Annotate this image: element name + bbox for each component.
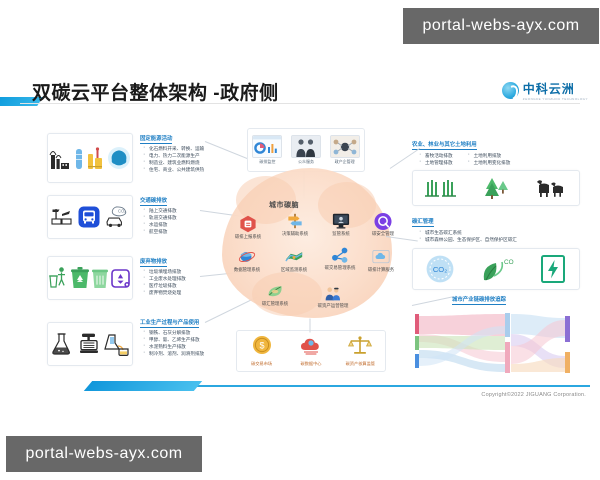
- tile-public-service[interactable]: 公众服务: [291, 135, 321, 165]
- cloud-compute-icon: [372, 248, 390, 266]
- bottom-item-label: 碳交易市场: [240, 361, 284, 367]
- icon-card-transport: CO₂: [47, 195, 133, 239]
- team-icon: [324, 284, 342, 302]
- tile-gov-enterprise[interactable]: 政产企管理: [330, 135, 360, 165]
- sankey-node: [565, 316, 570, 342]
- bus-icon: [78, 206, 100, 228]
- bullet-item: 水泥熟料生产排放: [142, 343, 224, 350]
- bullet-item: 航空排放: [142, 228, 222, 235]
- icon-card-afolu: [412, 170, 580, 206]
- bullet-item: 畜牧活动排放: [418, 152, 453, 159]
- bullet-list-fixed-energy: 化石燃料开采、转换、运输 电力、热力二次能源生产 制造业、建筑业燃料燃烧 住宅、…: [142, 145, 222, 173]
- brain-node-label: 区域监测系统: [271, 267, 317, 272]
- leaf-co2-icon: CO₂: [480, 254, 514, 284]
- bullet-item: 钢铁、石灰分解排放: [142, 329, 224, 336]
- gas-molecule-icon: [107, 146, 131, 170]
- share-nodes-icon: [331, 246, 349, 264]
- chart-title: 城市产业链碳排放追踪: [452, 295, 506, 305]
- co2-circle-icon: CO₂: [425, 254, 455, 284]
- bullet-item: 土地管理排放: [418, 159, 453, 166]
- brain-node-carbon-security[interactable]: 碳安全管理: [360, 212, 406, 236]
- recycle-bin-icon: [70, 266, 90, 290]
- copyright-text: Copyright©2022 JIGUANG Corporation.: [481, 392, 586, 398]
- icon-card-fixed-energy: [47, 133, 133, 183]
- bullet-item: 水运排放: [142, 221, 222, 228]
- bullet-item: 医疗垃圾排放: [142, 282, 222, 289]
- watermark-bottom: portal-webs-ayx.com: [6, 436, 202, 472]
- brain-node-carbon-calc[interactable]: 碳排计算服务: [358, 248, 404, 272]
- svg-text:CO₂: CO₂: [433, 265, 447, 274]
- brand-name: 中科云洲: [523, 80, 588, 97]
- bullet-item: 电力、热力二次能源生产: [142, 152, 222, 159]
- bullet-list-waste: 垃圾填埋场排放 工业废水处理排放 医疗垃圾排放 废弃物焚烧处理: [142, 268, 222, 296]
- title-divider: [20, 103, 580, 104]
- brain-node-label: 碳资产运营管理: [310, 303, 356, 308]
- officials-icon: [291, 135, 321, 158]
- sankey-node: [505, 313, 510, 337]
- bullet-item: 化石燃料开采、转换、运输: [142, 145, 222, 152]
- brain-node-report-upload[interactable]: 碳排上报系统: [225, 215, 271, 239]
- brand-logo: 中科云洲 ZHONGKE YUNZHOU TECHNOLOGY: [502, 80, 588, 101]
- watermark-top: portal-webs-ayx.com: [403, 8, 599, 44]
- leaf-sink-icon: [266, 282, 284, 300]
- bullet-item: 工业废水处理排放: [142, 275, 222, 282]
- brand-subtitle: ZHONGKE YUNZHOU TECHNOLOGY: [523, 97, 588, 101]
- map-region-icon: [285, 248, 303, 266]
- bullet-list-afolu: 畜牧活动排放 土地管理排放 土地利用排放 土地利用变化排放: [418, 152, 510, 166]
- slide-canvas: 双碳云平台整体架构 -政府侧 中科云洲 ZHONGKE YUNZHOU TECH…: [0, 0, 600, 480]
- person-trash-icon: [49, 266, 69, 290]
- footer-divider: [170, 385, 590, 387]
- bullet-list-industrial-process: 钢铁、石灰分解排放 甲醇、氨、乙烯生产排放 水泥熟料生产排放 制冷剂、溶剂、润滑…: [142, 329, 224, 357]
- group-title-carbon-sink: 碳汇管理: [412, 217, 434, 227]
- icon-card-waste: [47, 256, 133, 300]
- dashboard-chart-icon: [252, 135, 282, 158]
- tile-label: 政产企管理: [330, 159, 360, 165]
- waste-bin-icon: [91, 266, 109, 290]
- brain-node-label: 数据管理系统: [224, 267, 270, 272]
- brain-node-data-management[interactable]: 数据管理系统: [224, 248, 270, 272]
- svg-text:CO₂: CO₂: [118, 209, 126, 214]
- balance-scale-icon: [348, 335, 372, 355]
- brain-node-label: 碳排上报系统: [225, 234, 271, 239]
- bullet-item: 甲醇、氨、乙烯生产排放: [142, 336, 224, 343]
- sankey-svg: [407, 312, 579, 374]
- page-title: 双碳云平台整体架构 -政府侧: [32, 78, 279, 105]
- bottom-item-carbon-asset-audit[interactable]: 碳资产核算监管: [338, 335, 382, 367]
- svg-text:$: $: [259, 341, 264, 351]
- signpost-icon: [286, 212, 304, 230]
- connector-line: [390, 148, 420, 169]
- bullet-item: 轨道交通排放: [142, 214, 222, 221]
- group-title-waste: 废弃物排放: [140, 257, 167, 267]
- bullet-item: 制冷剂、溶剂、润滑剂排放: [142, 350, 224, 357]
- livestock-icon: [535, 176, 567, 200]
- car-co2-icon: CO₂: [104, 206, 130, 228]
- brain-node-regional-monitor[interactable]: 区域监测系统: [271, 248, 317, 272]
- brain-node-label: 碳安全管理: [360, 231, 406, 236]
- brain-node-label: 碳排计算服务: [358, 267, 404, 272]
- tile-label: 碳排监控: [252, 159, 282, 165]
- industrial-press-icon: [78, 332, 100, 356]
- forest-icon: [484, 176, 510, 200]
- connector-line: [412, 296, 453, 306]
- bullet-item: 废弃物焚烧处理: [142, 289, 222, 296]
- group-title-afolu: 农业、林业与其它土地利用: [412, 140, 477, 150]
- brain-node-supervision[interactable]: 监管系统: [318, 212, 364, 236]
- connector-line: [310, 319, 311, 333]
- svg-text:CO₂: CO₂: [504, 259, 514, 266]
- bullet-item: 制造业、建筑业燃料燃烧: [142, 159, 222, 166]
- bullet-list-carbon-sink: 城市生态碳汇系统 城市森林公园、生态保护区、自然保护区碳汇: [418, 229, 578, 243]
- brain-node-decision-support[interactable]: 决策辅助系统: [272, 212, 318, 236]
- brain-node-carbon-trading[interactable]: 碳交易管理系统: [317, 246, 363, 270]
- cloud-data-icon: [299, 335, 323, 355]
- database-orbit-icon: [238, 248, 256, 266]
- bullet-item: 城市生态碳汇系统: [418, 229, 578, 236]
- group-title-industrial-process: 工业生产过程与产品使用: [140, 318, 199, 328]
- tile-label: 公众服务: [291, 159, 321, 165]
- bullet-item: 土地利用变化排放: [467, 159, 511, 166]
- recycle-box-icon: [110, 266, 132, 290]
- bottom-feature-card[interactable]: $ 碳交易市场 碳数据中心 碳资产核算监管: [236, 330, 386, 372]
- crop-field-icon: [425, 176, 459, 200]
- flask-icon: [50, 332, 74, 356]
- airport-icon: [50, 205, 74, 229]
- icon-card-industrial-process: [47, 322, 133, 366]
- coin-icon: $: [252, 335, 272, 355]
- footer-accent-bar: [84, 381, 202, 391]
- sankey-node: [415, 354, 419, 368]
- group-title-fixed-energy: 固定能源活动: [140, 134, 172, 144]
- storage-tank-icon: [73, 145, 85, 171]
- bottom-item-carbon-market[interactable]: $ 碳交易市场: [240, 335, 284, 367]
- bottom-item-label: 碳数据中心: [289, 361, 333, 367]
- brain-node-carbon-sink-system[interactable]: 碳汇管理系统: [252, 282, 298, 306]
- brain-node-label: 碳交易管理系统: [317, 265, 363, 270]
- group-title-transport: 交通碳排放: [140, 196, 167, 206]
- bottom-item-carbon-data-center[interactable]: 碳数据中心: [289, 335, 333, 367]
- bullet-item: 住宅、商业、公共建筑供热: [142, 166, 222, 173]
- refinery-icon: [87, 145, 105, 171]
- bottom-item-label: 碳资产核算监管: [338, 361, 382, 367]
- sankey-node: [415, 314, 419, 334]
- icon-card-carbon-sink: CO₂ CO₂: [412, 248, 580, 290]
- monitor-icon: [332, 212, 350, 230]
- brain-node-label: 决策辅助系统: [272, 231, 318, 236]
- green-energy-icon: [539, 254, 567, 284]
- sankey-chart: [407, 312, 579, 374]
- sankey-node: [505, 342, 510, 373]
- sankey-node: [565, 352, 570, 373]
- tile-carbon-monitor[interactable]: 碳排监控: [252, 135, 282, 165]
- report-upload-icon: [239, 215, 257, 233]
- top-dashboard-tiles[interactable]: 碳排监控 公众服务: [247, 128, 365, 172]
- beaker-pour-icon: [104, 332, 130, 356]
- sankey-node: [415, 336, 419, 350]
- brain-node-label: 监管系统: [318, 231, 364, 236]
- bullet-item: 城市森林公园、生态保护区、自然保护区碳汇: [418, 236, 578, 243]
- brain-node-carbon-asset-ops[interactable]: 碳资产运营管理: [310, 284, 356, 308]
- bullet-item: 土地利用排放: [467, 152, 511, 159]
- shield-q-icon: [374, 212, 392, 230]
- factory-icon: [49, 145, 71, 171]
- brand-swoosh-icon: [502, 82, 519, 99]
- brain-title: 城市碳脑: [269, 200, 299, 210]
- users-network-icon: [330, 135, 360, 158]
- brain-node-label: 碳汇管理系统: [252, 301, 298, 306]
